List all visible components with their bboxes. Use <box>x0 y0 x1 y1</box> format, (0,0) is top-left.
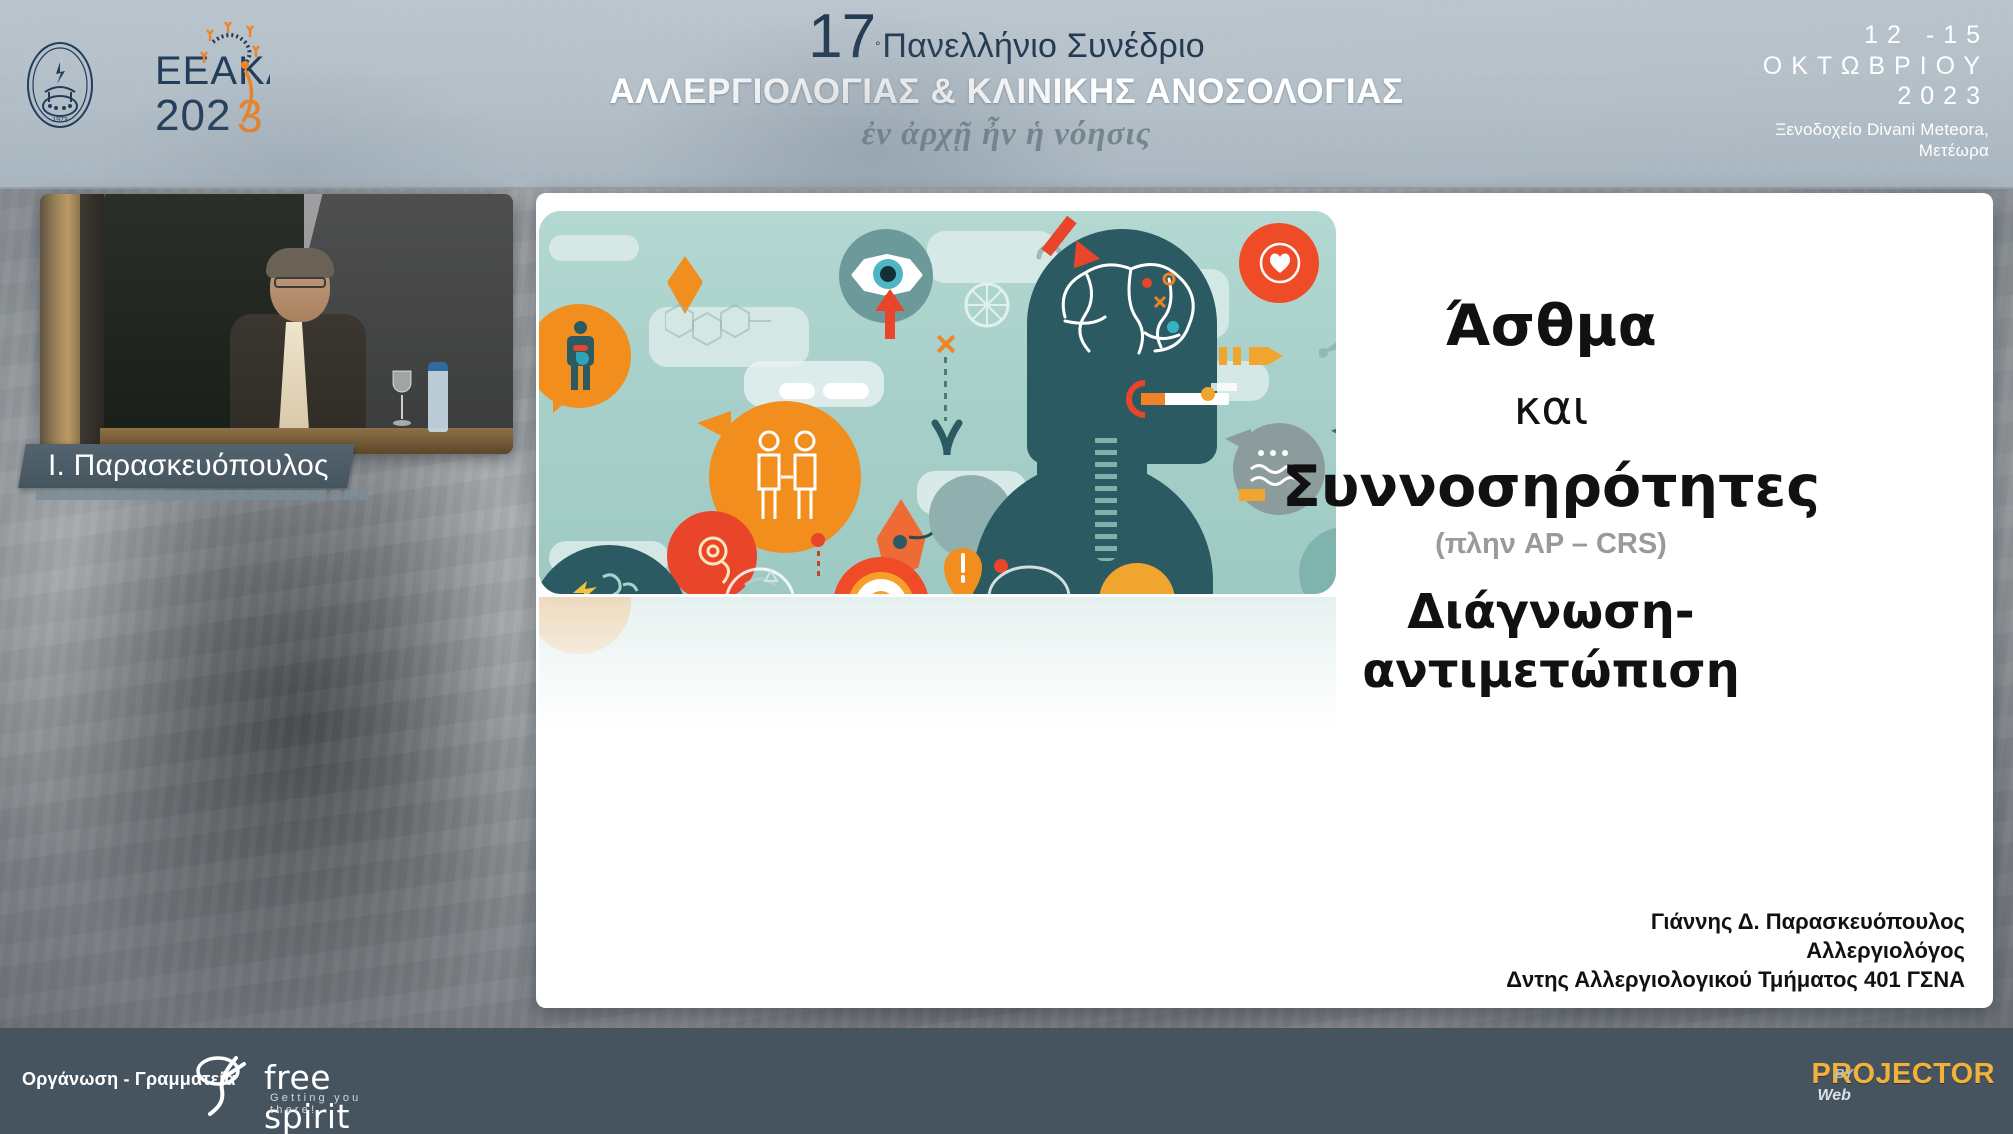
eeaka-seal-icon: 1973 <box>25 40 95 130</box>
conference-subtitle: Πανελλήνιο Συνέδριο <box>882 27 1204 65</box>
venue-city: Μετέωρα <box>1763 140 1989 161</box>
date-year: 2023 <box>1763 81 1989 112</box>
slide-title-line-5: αντιμετώπιση <box>1136 642 1966 701</box>
conference-date-venue: 12 -15 ΟΚΤΩΒΡΙΟΥ 2023 Ξενοδοχείο Divani … <box>1763 20 1989 161</box>
conference-header-banner: 1973 EEAKA 202 3 1 <box>0 0 2013 189</box>
footer-bar: Οργάνωση - Γραμματεία free spirit Gettin… <box>0 1028 2013 1134</box>
slide-title-block: Άσθμα και Συννοσηρότητες (πλην AP – CRS)… <box>1136 293 1966 700</box>
date-month: ΟΚΤΩΒΡΙΟΥ <box>1763 51 1989 82</box>
speaker-video-player[interactable] <box>40 194 513 454</box>
conference-title: ΑΛΛΕΡΓΙΟΛΟΓΙΑΣ & ΚΛΙΝΙΚΗΣ ΑΝΟΣΟΛΟΓΙΑΣ <box>507 72 1507 112</box>
slide-title-line-4: Διάγνωση- <box>1136 583 1966 642</box>
broadcast-viewer: 1973 EEAKA 202 3 1 <box>0 0 2013 1134</box>
nameplate-underbar <box>36 490 368 500</box>
svg-text:202: 202 <box>155 91 231 140</box>
speaker-nameplate-bar: Ι. Παρασκευόπουλος <box>18 444 354 488</box>
video-dark-edge <box>80 194 104 454</box>
presentation-slide[interactable]: Άσθμα και Συννοσηρότητες (πλην AP – CRS)… <box>536 193 1993 1008</box>
wine-glass <box>390 369 414 431</box>
projector-web-logo[interactable]: BY PROJECTOR Web <box>1811 1058 1995 1105</box>
speaker-nameplate: Ι. Παρασκευόπουλος <box>22 444 351 488</box>
slide-title-line-3: Συννοσηρότητες <box>1136 454 1966 520</box>
eeaka-2023-wordmark-icon: EEAKA 202 3 <box>155 22 270 147</box>
water-bottle <box>428 362 448 432</box>
conference-number-line: 17°Πανελλήνιο Συνέδριο <box>507 6 1507 68</box>
svg-text:1973: 1973 <box>52 117 68 124</box>
video-wood-panel <box>40 194 80 454</box>
free-spirit-tagline: Getting you there! <box>270 1092 396 1116</box>
conference-motto: ἐν ἀρχῇ ἦν ἡ νόησις <box>507 116 1507 153</box>
conference-number: 17 <box>808 2 875 71</box>
slide-title-note: (πλην AP – CRS) <box>1136 528 1966 561</box>
conference-title-block: 17°Πανελλήνιο Συνέδριο ΑΛΛΕΡΓΙΟΛΟΓΙΑΣ & … <box>507 6 1507 153</box>
projector-by-label: BY <box>1835 1066 1853 1081</box>
venue-name: Ξενοδοχείο Divani Meteora, <box>1763 119 1989 140</box>
author-name: Γιάννης Δ. Παρασκευόπουλος <box>1506 907 1965 936</box>
date-days: 12 -15 <box>1763 20 1989 51</box>
speaker-name: Ι. Παρασκευόπουλος <box>48 449 329 483</box>
slide-title-line-2: και <box>1136 381 1966 436</box>
author-affiliation: Δντης Αλλεργιολογικού Τμήματος 401 ΓΣΝΑ <box>1506 965 1965 994</box>
slide-title-line-1: Άσθμα <box>1136 293 1966 359</box>
free-spirit-logo[interactable]: free spirit Getting you there! <box>196 1052 396 1116</box>
author-role: Αλλεργιολόγος <box>1506 936 1965 965</box>
degree-sign: ° <box>875 39 880 54</box>
speaker-figure <box>222 252 372 454</box>
slide-author-block: Γιάννης Δ. Παρασκευόπουλος Αλλεργιολόγος… <box>1506 907 1965 994</box>
